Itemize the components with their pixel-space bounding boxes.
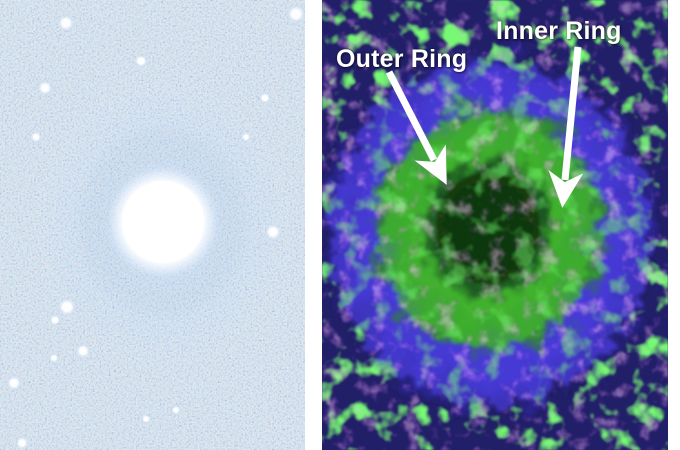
hi-outskirt-green-speckle xyxy=(322,0,668,450)
optical-image-panel xyxy=(0,0,305,450)
two-panel-astronomical-figure: Outer Ring Inner Ring xyxy=(0,0,680,450)
optical-image-canvas xyxy=(0,0,305,450)
hi-map-canvas xyxy=(322,0,668,450)
hi-intensity-map-panel xyxy=(322,0,668,450)
galaxy-nucleus-saturated xyxy=(122,181,204,263)
